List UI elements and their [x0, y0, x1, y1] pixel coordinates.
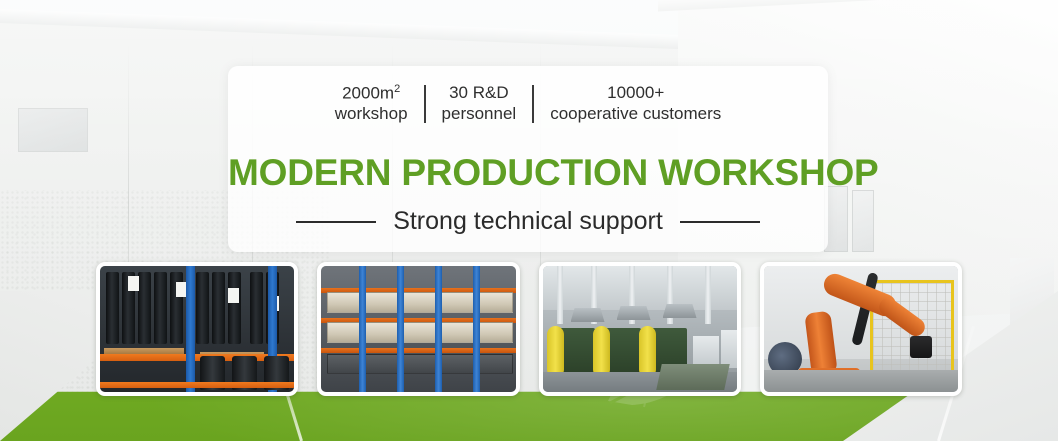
stat-value: 2000m: [342, 84, 394, 103]
thumbnail-warehouse-racking-rolls[interactable]: [96, 262, 298, 396]
thumbnail-production-floor-machines[interactable]: [539, 262, 741, 396]
stat-value: 30 R&D: [449, 83, 509, 102]
stat-value: 10000+: [607, 83, 664, 102]
content-card: 2000m2 workshop 30 R&D personnel 10000+ …: [228, 66, 828, 252]
headline: MODERN PRODUCTION WORKSHOP: [228, 154, 828, 191]
stat-superscript: 2: [394, 83, 400, 95]
photo-warehouse-racking-rolls: [100, 266, 294, 392]
promo-banner: 2000m2 workshop 30 R&D personnel 10000+ …: [0, 0, 1058, 441]
subtitle-rule-right: [680, 221, 760, 223]
subtitle: Strong technical support: [393, 209, 663, 234]
photo-pallet-racking-boxes: [321, 266, 515, 392]
photo-robot-arm-cell: [764, 266, 958, 392]
stat-label: personnel: [442, 104, 517, 123]
thumbnail-strip: [96, 262, 962, 396]
subtitle-row: Strong technical support: [228, 209, 828, 234]
stat-workshop-area: 2000m2 workshop: [319, 83, 424, 125]
stats-row: 2000m2 workshop 30 R&D personnel 10000+ …: [228, 83, 828, 125]
thumbnail-robot-arm-cell[interactable]: [760, 262, 962, 396]
stat-rd-personnel: 30 R&D personnel: [426, 83, 533, 124]
stat-cooperative-customers: 10000+ cooperative customers: [534, 83, 737, 124]
photo-production-floor-machines: [543, 266, 737, 392]
subtitle-rule-left: [296, 221, 376, 223]
thumbnail-pallet-racking-boxes[interactable]: [317, 262, 519, 396]
stat-label: workshop: [335, 104, 408, 123]
stat-label: cooperative customers: [550, 104, 721, 123]
